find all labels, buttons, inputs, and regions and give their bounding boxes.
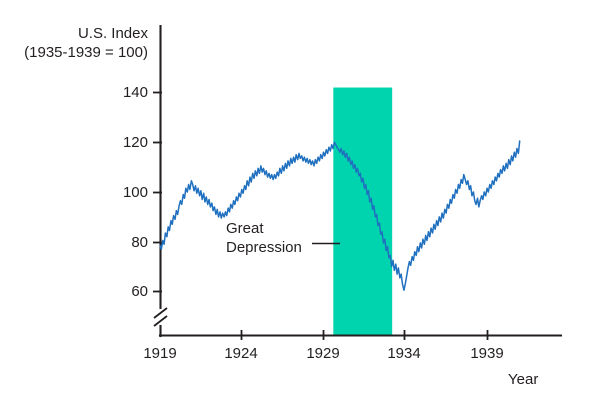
x-tick-label-1939: 1939: [457, 345, 517, 363]
y-axis-title-line1: U.S. Index: [0, 25, 148, 43]
x-axis-title: Year: [508, 371, 538, 389]
x-tick-label-1924: 1924: [211, 345, 271, 363]
y-tick-label-100: 100: [104, 184, 148, 202]
y-tick-label-120: 120: [104, 134, 148, 152]
x-tick-label-1929: 1929: [293, 345, 353, 363]
great-depression-band: [333, 88, 392, 336]
chart-container: U.S. Index (1935-1939 = 100) 140 120 100…: [0, 0, 612, 408]
y-tick-label-80: 80: [104, 234, 148, 252]
x-tick-label-1919: 1919: [130, 345, 190, 363]
y-tick-label-140: 140: [104, 84, 148, 102]
y-axis-title-line2: (1935-1939 = 100): [0, 44, 148, 62]
annotation-label-line1: Great: [226, 220, 264, 238]
annotation-label-line2: Depression: [226, 239, 302, 257]
y-tick-label-60: 60: [104, 283, 148, 301]
x-tick-label-1934: 1934: [374, 345, 434, 363]
